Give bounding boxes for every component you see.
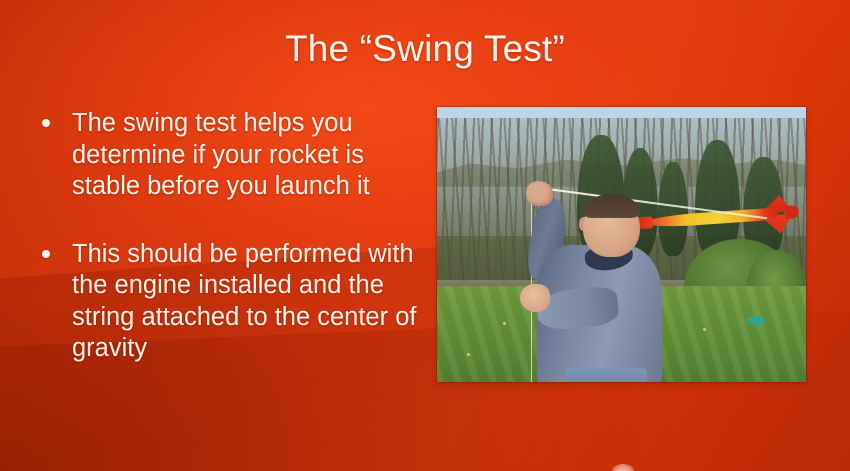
photo-dandelion (467, 353, 470, 356)
bullet-item: The swing test helps you determine if yo… (38, 108, 423, 203)
photo-dandelion (503, 322, 506, 325)
photo-man-raised-hand (526, 181, 554, 206)
slide-title: The “Swing Test” (0, 28, 850, 71)
swing-test-photo (437, 107, 806, 382)
photo-teal-object (747, 316, 765, 325)
bullet-dot-icon (42, 250, 50, 258)
slide-body-text: The swing test helps you determine if yo… (38, 108, 423, 365)
bullet-item: This should be performed with the engine… (38, 239, 423, 365)
photo-man-jeans (566, 368, 647, 382)
bullet-text: The swing test helps you determine if yo… (72, 108, 423, 203)
photo-dandelion (703, 328, 706, 331)
photo-man-forward-hand (520, 284, 550, 312)
slide-canvas: The “Swing Test” The swing test helps yo… (0, 0, 850, 471)
bullet-text: This should be performed with the engine… (72, 239, 423, 365)
bullet-dot-icon (42, 119, 50, 127)
bottom-edge-shape (612, 464, 634, 471)
photo-scene (437, 107, 806, 382)
rocket-tail (784, 206, 798, 220)
